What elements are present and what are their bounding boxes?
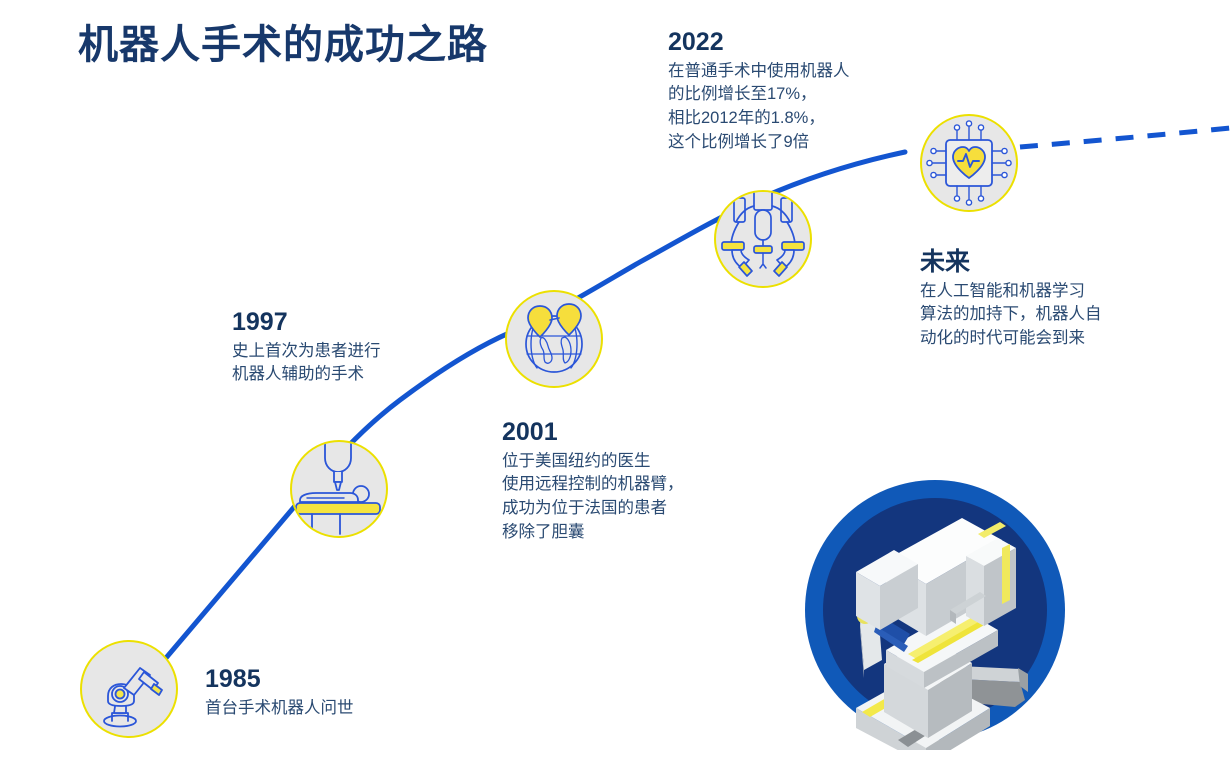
milestone-desc-future: 在人工智能和机器学习 算法的加持下，机器人自 动化的时代可能会到来 (920, 280, 1102, 352)
milestone-text-2001: 2001 位于美国纽约的医生 使用远程控制的机器臂， 成功为位于法国的患者 移除… (502, 418, 684, 545)
milestone-year-1997: 1997 (232, 308, 381, 338)
milestone-desc-1985: 首台手术机器人问世 (205, 697, 354, 721)
desc-line: 在普通手术中使用机器人 (668, 60, 850, 84)
desc-line: 史上首次为患者进行 (232, 340, 381, 364)
milestone-node-2022[interactable] (714, 190, 812, 288)
milestone-text-2022: 2022 在普通手术中使用机器人 的比例增长至17%， 相比2012年的1.8%… (668, 28, 850, 155)
desc-line: 位于美国纽约的医生 (502, 450, 684, 474)
multi-arm-robot-icon (716, 192, 810, 286)
milestone-year-2022: 2022 (668, 28, 850, 58)
milestone-desc-2001: 位于美国纽约的医生 使用远程控制的机器臂， 成功为位于法国的患者 移除了胆囊 (502, 450, 684, 546)
milestone-text-future: 未来 在人工智能和机器学习 算法的加持下，机器人自 动化的时代可能会到来 (920, 248, 1102, 351)
milestone-node-2001[interactable] (505, 290, 603, 388)
milestone-node-future[interactable] (920, 114, 1018, 212)
timeline-dashed-line (1020, 128, 1230, 147)
milestone-desc-2022: 在普通手术中使用机器人 的比例增长至17%， 相比2012年的1.8%， 这个比… (668, 60, 850, 156)
milestone-node-1985[interactable] (80, 640, 178, 738)
robot-arm-icon (82, 642, 176, 736)
milestone-desc-1997: 史上首次为患者进行 机器人辅助的手术 (232, 340, 381, 388)
milestone-text-1985: 1985 首台手术机器人问世 (205, 665, 354, 720)
milestone-node-1997[interactable] (290, 440, 388, 538)
desc-line: 机器人辅助的手术 (232, 363, 381, 387)
surgical-robot-machine-illustration (790, 460, 1080, 750)
desc-line: 在人工智能和机器学习 (920, 280, 1102, 304)
ai-chip-heart-icon (922, 116, 1016, 210)
globe-remote-icon (507, 292, 601, 386)
desc-line: 的比例增长至17%， (668, 83, 850, 107)
desc-line: 这个比例增长了9倍 (668, 131, 850, 155)
desc-line: 首台手术机器人问世 (205, 697, 354, 721)
desc-line: 动化的时代可能会到来 (920, 327, 1102, 351)
milestone-text-1997: 1997 史上首次为患者进行 机器人辅助的手术 (232, 308, 381, 387)
desc-line: 移除了胆囊 (502, 521, 684, 545)
page-title: 机器人手术的成功之路 (78, 12, 488, 70)
desc-line: 算法的加持下，机器人自 (920, 303, 1102, 327)
desc-line: 相比2012年的1.8%， (668, 107, 850, 131)
robotic-surgery-table-icon (292, 442, 386, 536)
milestone-year-1985: 1985 (205, 665, 354, 695)
desc-line: 使用远程控制的机器臂， (502, 473, 684, 497)
milestone-year-2001: 2001 (502, 418, 684, 448)
infographic-canvas: 机器人手术的成功之路 (0, 0, 1230, 769)
milestone-year-future: 未来 (920, 248, 1102, 278)
desc-line: 成功为位于法国的患者 (502, 497, 684, 521)
